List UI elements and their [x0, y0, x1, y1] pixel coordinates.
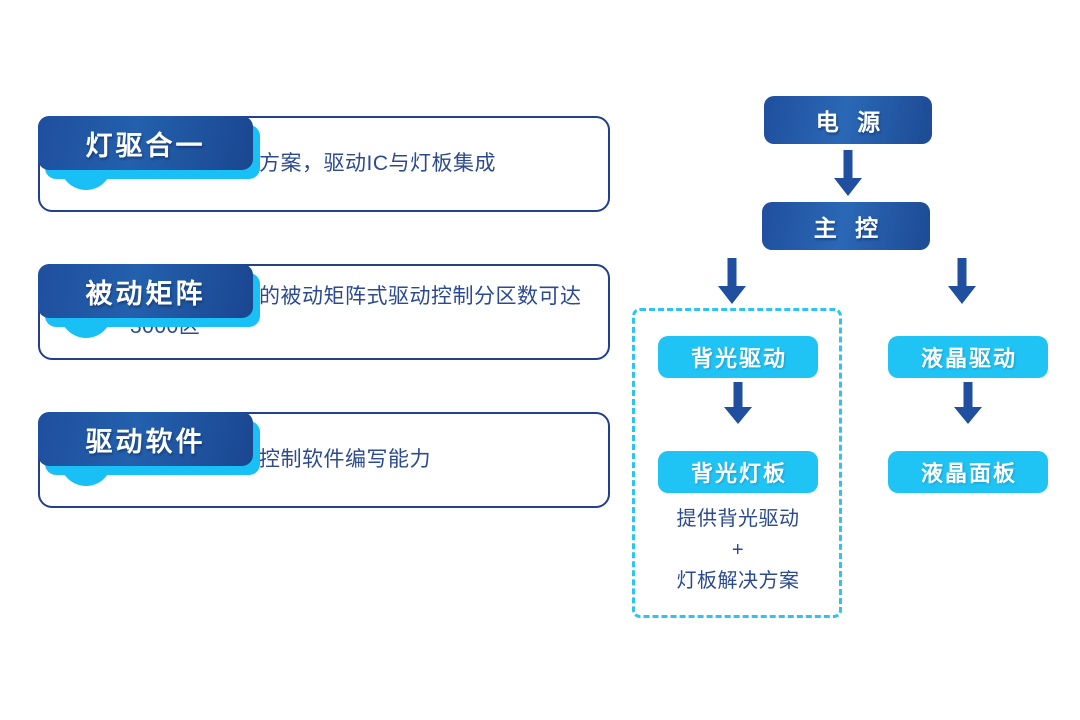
flow-node-main-control-label: 主 控 [808, 209, 884, 243]
feature-badge-label: 被动矩阵 [86, 272, 206, 311]
badge-plate: 灯驱合一 [38, 116, 253, 170]
feature-badge-label: 灯驱合一 [86, 124, 206, 163]
flow-node-lcd-driver-label: 液晶驱动 [919, 341, 1017, 373]
note-line-1: 提供背光驱动 [638, 504, 838, 535]
arrow-main-to-lcd-driver [946, 258, 978, 306]
flow-node-backlight-board[interactable]: 背光灯板 [658, 451, 818, 493]
note-line-2: + [638, 535, 838, 566]
badge-plate: 驱动软件 [38, 412, 253, 466]
feature-badge: 被动矩阵 [38, 264, 253, 318]
feature-card[interactable]: 灯驱合一 采用灯驱合一方案 [38, 116, 610, 212]
flow-node-backlight-driver[interactable]: 背光驱动 [658, 336, 818, 378]
feature-badge: 驱动软件 [38, 412, 253, 466]
flow-node-lcd-panel-label: 液晶面板 [919, 456, 1017, 488]
feature-card[interactable]: 驱动软件 具备背光驱动控制软件编写能力 [38, 412, 610, 508]
flow-node-lcd-panel[interactable]: 液晶面板 [888, 451, 1048, 493]
backlight-solution-note: 提供背光驱动 + 灯板解决方案 [638, 504, 838, 597]
flow-node-lcd-driver[interactable]: 液晶驱动 [888, 336, 1048, 378]
feature-card[interactable]: 被动矩阵 支持最高八扫的被动矩阵式驱动控制分区数可达3000区 [38, 264, 610, 360]
arrow-main-to-backlight-driver [716, 258, 748, 306]
flow-node-main-control[interactable]: 主 控 [762, 202, 930, 250]
flow-node-backlight-board-label: 背光灯板 [689, 456, 787, 488]
flow-diagram: 电 源 主 控 背光驱动 [620, 80, 1060, 650]
arrow-power-to-main [832, 150, 864, 198]
feature-badge: 灯驱合一 [38, 116, 253, 170]
feature-card-list: 灯驱合一 采用灯驱合一方案 [38, 86, 610, 508]
badge-plate: 被动矩阵 [38, 264, 253, 318]
note-line-3: 灯板解决方案 [638, 566, 838, 597]
flow-node-power-label: 电 源 [810, 103, 886, 137]
flow-node-backlight-driver-label: 背光驱动 [689, 341, 787, 373]
arrow-backlight-driver-to-board [722, 382, 754, 426]
flow-node-power[interactable]: 电 源 [764, 96, 932, 144]
feature-badge-label: 驱动软件 [86, 420, 206, 459]
slide-canvas: 灯驱合一 采用灯驱合一方案 [0, 0, 1080, 720]
arrow-lcd-driver-to-panel [952, 382, 984, 426]
